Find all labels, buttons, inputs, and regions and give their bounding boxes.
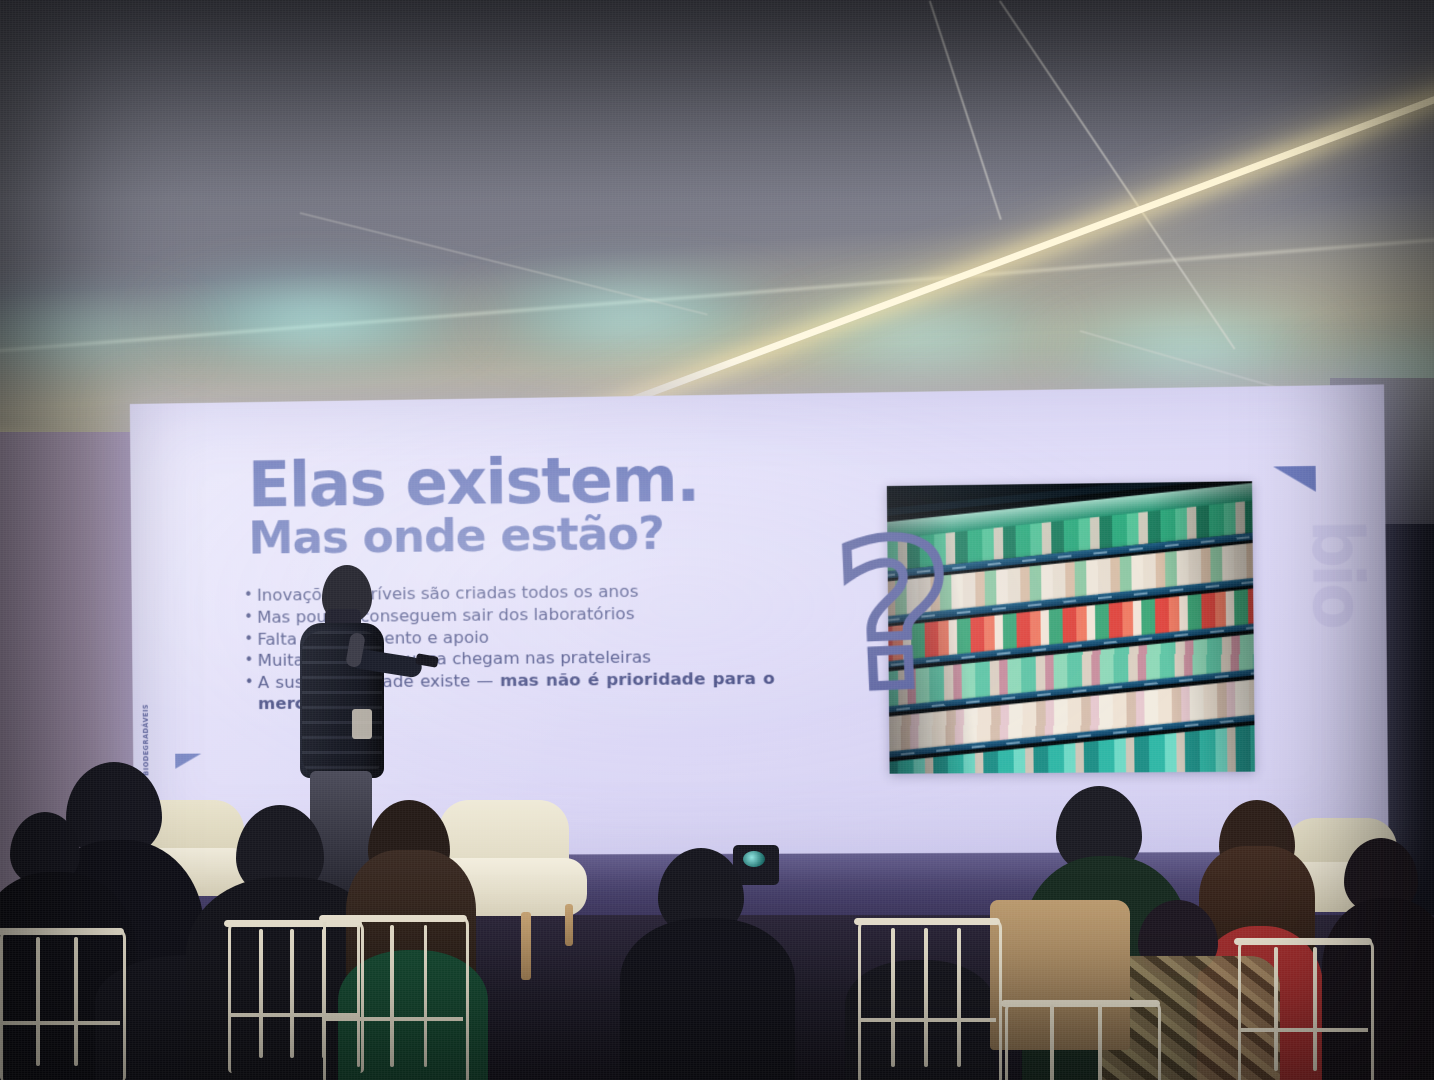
chair-slat [357,925,361,1067]
chair-top-rail [319,915,467,922]
bullet-dot: • [245,673,258,715]
chair-top-rail [1234,938,1372,945]
bullet-dot: • [244,651,257,672]
chair-back [323,915,469,1080]
chair-slat [891,928,895,1067]
slide-title-line2: Mas onde estão? [248,510,664,560]
presentation-photo: Elas existem. Mas onde estão? bio • Inov… [0,0,1434,1080]
chair-back [858,918,1002,1080]
chair-slat [1098,1005,1102,1080]
chair-back [1005,1000,1161,1080]
chair [1005,1000,1155,1080]
chair-slat [924,928,928,1067]
chair-slat [290,929,294,1058]
armchair-leg [521,912,531,980]
triangle-top-right-icon [1273,466,1316,492]
chair-slat [424,925,428,1067]
chair-slat [1274,947,1278,1072]
chair-top-rail [0,928,124,935]
chair-slat [390,925,394,1067]
slide-watermark: bio [1305,519,1369,626]
chair [1238,938,1368,1080]
chair-crossbar [858,1018,996,1022]
chair-crossbar [0,1021,120,1025]
chair-slat [74,937,78,1066]
bullet-dot: • [244,586,257,607]
question-mark-icon: ? [832,514,959,719]
bullet-dot: • [244,629,257,650]
presenter-badge [352,709,372,739]
chair-slat [36,937,40,1066]
chair-top-rail [1001,1000,1160,1007]
audience-body [620,918,795,1080]
chair-top-rail [854,918,1000,925]
chair-slat [957,928,961,1067]
chair [323,915,463,1080]
chair-slat [1050,1005,1054,1080]
chair-back [0,928,126,1080]
chair [858,918,996,1080]
chair-slat [259,929,263,1058]
chair-crossbar [323,1017,463,1021]
armchair-leg [565,904,573,946]
audience-member [630,848,780,1080]
bullet-dot: • [244,608,257,629]
chair-back [1238,938,1374,1080]
chair-crossbar [1238,1028,1368,1032]
chair [0,928,120,1078]
chair-slat [1313,947,1317,1072]
